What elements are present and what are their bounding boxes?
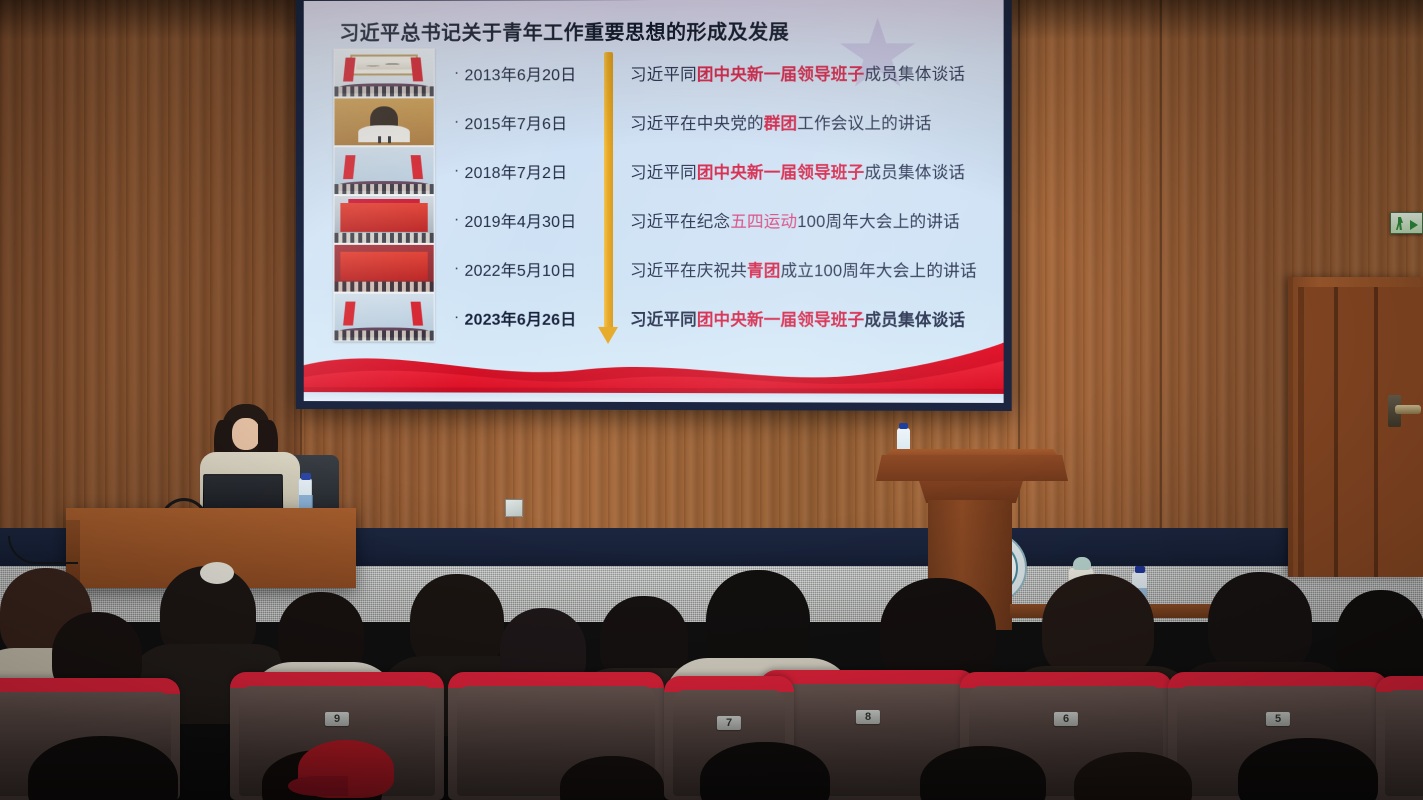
timeline-row: · 2023年6月26日 习近平同团中央新一届领导班子成员集体谈话 (333, 293, 991, 343)
seat-number: 9 (325, 712, 349, 726)
meeting-photo-1 (333, 48, 434, 97)
seat-number: 8 (856, 710, 880, 724)
timeline-row: · 2019年4月30日 习近平在纪念五四运动100周年大会上的讲话 (333, 195, 991, 244)
timeline-date: 2023年6月26日 (465, 305, 593, 329)
bullet: · (449, 309, 465, 325)
timeline-date: 2015年7月6日 (465, 110, 593, 134)
timeline-row: · 2015年7月6日 习近平在中央党的群团工作会议上的讲话 (333, 97, 991, 147)
red-cap (298, 740, 394, 798)
seat[interactable] (1376, 676, 1423, 800)
seat-number: 7 (717, 716, 741, 730)
timeline-description: 习近平在纪念五四运动100周年大会上的讲话 (630, 207, 992, 231)
timeline-date: 2022年5月10日 (465, 256, 593, 280)
presenter-face (232, 418, 260, 450)
wall-seam (1160, 0, 1162, 560)
audience-head (1042, 574, 1154, 680)
timeline-list: · 2013年6月20日 习近平同团中央新一届领导班子成员集体谈话 · 2015… (333, 47, 991, 340)
seat-number: 6 (1054, 712, 1078, 726)
audience-head (1208, 572, 1312, 674)
meeting-photo-5 (333, 244, 434, 293)
timeline-date: 2018年7月2日 (465, 159, 593, 183)
projection-screen: 习近平总书记关于青年工作重要思想的形成及发展 · 2013年6月20日 习近平同… (296, 0, 1012, 411)
bullet: · (449, 65, 465, 81)
timeline-description: 习近平在庆祝共青团成立100周年大会上的讲话 (630, 256, 992, 280)
running-man-glyph (1396, 217, 1403, 230)
audience-area: 9 8 7 6 5 (0, 560, 1423, 800)
lecture-hall-scene: 习近平总书记关于青年工作重要思想的形成及发展 · 2013年6月20日 习近平同… (0, 0, 1423, 800)
bullet: · (449, 260, 465, 276)
slide-bottom-strip (304, 392, 1004, 403)
door-handle[interactable] (1395, 405, 1421, 414)
emergency-exit-icon (1390, 212, 1423, 234)
timeline-row: · 2022年5月10日 习近平在庆祝共青团成立100周年大会上的讲话 (333, 244, 991, 294)
bullet: · (449, 114, 465, 130)
meeting-photo-3 (333, 146, 434, 195)
hair-tie (200, 562, 234, 584)
lectern-top (876, 455, 1068, 481)
slide-title: 习近平总书记关于青年工作重要思想的形成及发展 (339, 16, 789, 46)
timeline-description: 习近平同团中央新一届领导班子成员集体谈话 (630, 158, 992, 182)
timeline-date: 2013年6月20日 (465, 61, 593, 85)
timeline-description: 习近平同团中央新一届领导班子成员集体谈话 (630, 305, 992, 330)
wall-switch-plate[interactable] (505, 499, 523, 517)
slide-surface: 习近平总书记关于青年工作重要思想的形成及发展 · 2013年6月20日 习近平同… (304, 0, 1004, 403)
bullet: · (449, 211, 465, 227)
wooden-door[interactable] (1298, 287, 1423, 577)
timeline-description: 习近平在中央党的群团工作会议上的讲话 (630, 109, 992, 133)
bullet: · (449, 163, 465, 179)
timeline-description: 习近平同团中央新一届领导班子成员集体谈话 (630, 60, 992, 85)
exit-arrow-glyph (1410, 220, 1418, 230)
timeline-row: · 2018年7月2日 习近平同团中央新一届领导班子成员集体谈话 (333, 146, 991, 195)
meeting-photo-4 (333, 195, 434, 244)
meeting-photo-2 (333, 97, 434, 146)
seat-number: 5 (1266, 712, 1290, 726)
timeline-row: · 2013年6月20日 习近平同团中央新一届领导班子成员集体谈话 (333, 47, 991, 97)
meeting-photo-6 (333, 293, 434, 342)
timeline-date: 2019年4月30日 (465, 207, 593, 231)
